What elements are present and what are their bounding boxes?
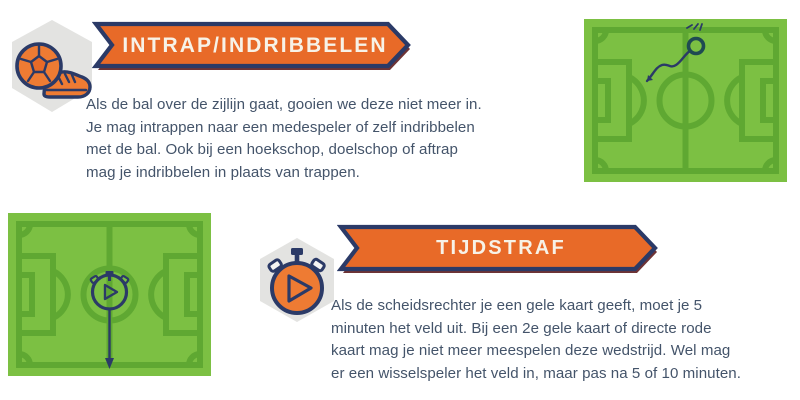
pitch-with-dribble-path xyxy=(584,19,787,182)
stopwatch-icon xyxy=(256,234,338,326)
section-banner-tijdstraf[interactable]: TIJDSTRAF xyxy=(337,221,659,275)
paragraph-tijdstraf: Als de scheidsrechter je een gele kaart … xyxy=(331,295,800,385)
section-banner-intrap[interactable]: INTRAP/INDRIBBELEN xyxy=(92,18,412,72)
ball-ring-marker xyxy=(689,39,704,54)
banner-label-intrap: INTRAP/INDRIBBELEN xyxy=(116,35,387,56)
pitch-with-stopwatch-exit xyxy=(8,213,211,376)
infographic-canvas: INTRAP/INDRIBBELEN Als de bal over de zi… xyxy=(0,0,800,400)
soccer-ball-glyph xyxy=(17,44,61,88)
paragraph-intrap: Als de bal over de zijlijn gaat, gooien … xyxy=(86,94,556,184)
soccer-ball-and-shoe-icon xyxy=(6,14,98,118)
banner-label-tijdstraf: TIJDSTRAF xyxy=(430,238,566,258)
